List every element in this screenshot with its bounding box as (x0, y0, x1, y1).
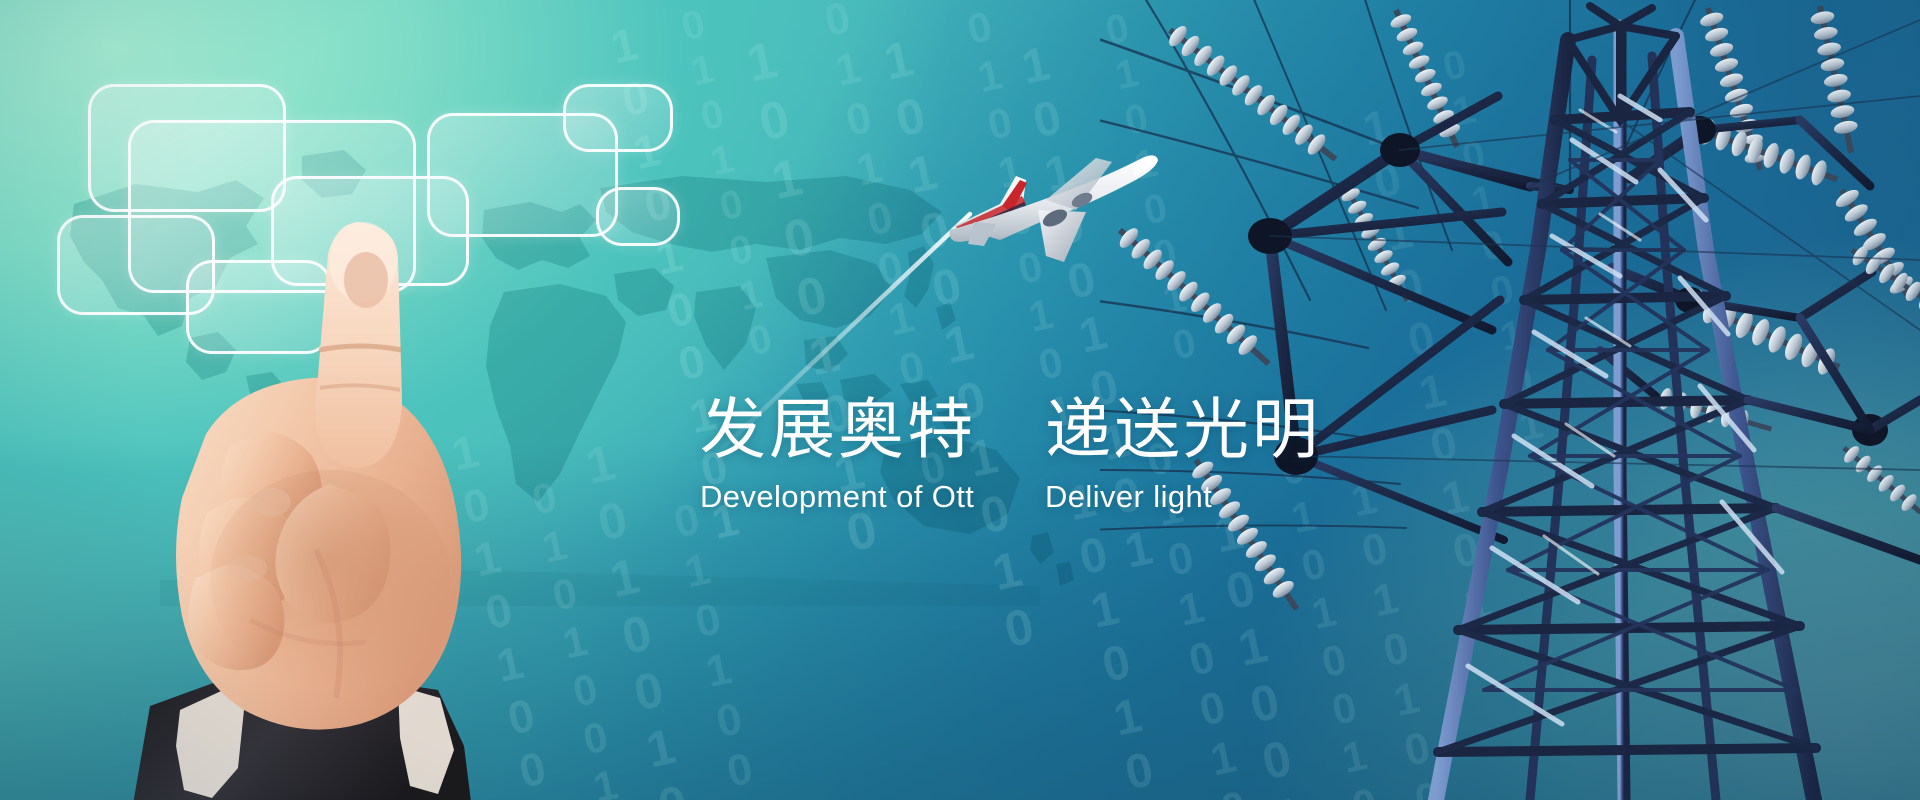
hero-banner: 1010100101010100101010010100101001010101… (0, 0, 1920, 800)
vignette-overlay (0, 0, 1920, 800)
